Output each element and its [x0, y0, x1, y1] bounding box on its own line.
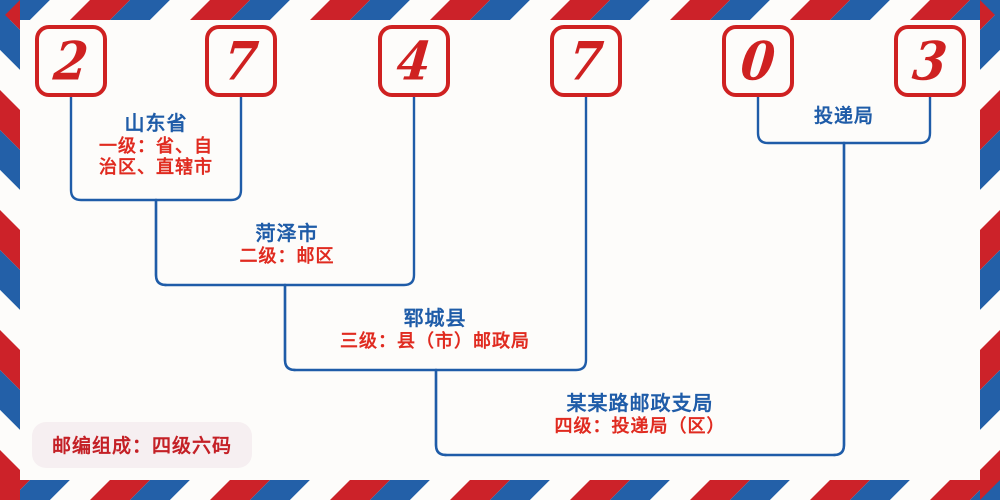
group-2-sub-line1: 二级：邮区	[172, 246, 402, 267]
group-3-sub-line1: 三级：县（市）邮政局	[295, 331, 575, 352]
digit-box-4[interactable]: 7	[550, 25, 622, 97]
delivery-office-label: 投递局	[758, 105, 930, 127]
group-1-sub-line2: 治区、直辖市	[76, 157, 236, 178]
group-1-sub-line1: 一级：省、自	[76, 136, 236, 157]
group-label-level-3: 郓城县 三级：县（市）邮政局	[295, 307, 575, 352]
digit-value-3: 4	[394, 35, 433, 88]
digit-value-5: 0	[738, 35, 777, 88]
group-label-level-4: 某某路邮政支局 四级：投递局（区）	[450, 392, 830, 437]
group-label-level-1: 山东省 一级：省、自 治区、直辖市	[76, 112, 236, 178]
group-3-title: 郓城县	[295, 307, 575, 331]
postcode-composition-text: 邮编组成：四级六码	[52, 435, 232, 457]
digit-box-6[interactable]: 3	[894, 25, 966, 97]
group-1-title: 山东省	[76, 112, 236, 136]
group-4-title: 某某路邮政支局	[450, 392, 830, 416]
digit-box-3[interactable]: 4	[378, 25, 450, 97]
group-2-title: 菏泽市	[172, 222, 402, 246]
postcode-infographic: 2 7 4 7 0 3 投递局 山东省 一级：省、自 治区、直辖市 菏泽市 二级…	[0, 0, 1000, 500]
delivery-office-title: 投递局	[758, 105, 930, 127]
group-4-sub-line1: 四级：投递局（区）	[450, 416, 830, 437]
digit-value-6: 3	[910, 35, 949, 88]
digit-value-1: 2	[51, 35, 90, 88]
postcode-composition-badge: 邮编组成：四级六码	[32, 422, 252, 468]
digit-value-2: 7	[221, 35, 260, 88]
digit-box-1[interactable]: 2	[35, 25, 107, 97]
digit-value-4: 7	[566, 35, 605, 88]
digit-box-2[interactable]: 7	[205, 25, 277, 97]
group-label-level-2: 菏泽市 二级：邮区	[172, 222, 402, 267]
digit-box-5[interactable]: 0	[722, 25, 794, 97]
